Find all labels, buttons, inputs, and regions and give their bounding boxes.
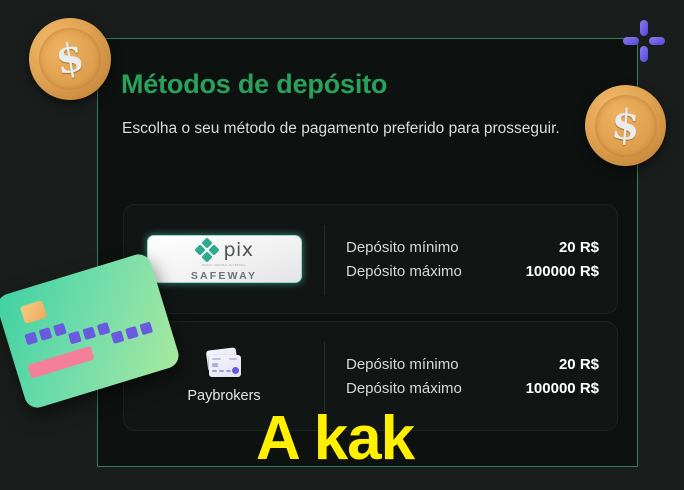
max-deposit-label: Depósito máximo [346,263,462,280]
max-deposit-label: Depósito máximo [346,380,462,397]
method-divider [324,225,325,295]
pix-limits: Depósito mínimo 20 R$ Depósito máximo 10… [346,205,599,313]
payment-method-pix-safeway[interactable]: pix BANCO CENTRAL DO BRASIL SAFEWAY Depó… [123,204,618,314]
overlay-watermark-text: A kak [256,408,414,470]
min-deposit-label: Depósito mínimo [346,239,459,256]
pix-tagline: BANCO CENTRAL DO BRASIL [202,264,245,268]
deposit-methods-panel: Métodos de depósito Escolha o seu método… [97,38,638,467]
pix-diamond-icon [194,237,220,263]
payment-method-list: pix BANCO CENTRAL DO BRASIL SAFEWAY Depó… [123,204,618,438]
page-title: Métodos de depósito [121,69,387,100]
dollar-symbol: $ [610,104,641,147]
pix-brand-safeway: SAFEWAY [191,270,257,282]
min-deposit-label: Depósito mínimo [346,356,459,373]
max-deposit-row: Depósito máximo 100000 R$ [346,263,599,280]
min-deposit-value: 20 R$ [559,239,599,256]
pix-wordmark: pix [223,241,253,260]
credit-card-icon [205,349,243,379]
paybrokers-label: Paybrokers [187,388,260,404]
min-deposit-row: Depósito mínimo 20 R$ [346,239,599,256]
method-divider [324,342,325,412]
page-subtitle: Escolha o seu método de pagamento prefer… [122,116,572,142]
pix-logo-plate[interactable]: pix BANCO CENTRAL DO BRASIL SAFEWAY [147,235,302,283]
screen-root: Métodos de depósito Escolha o seu método… [0,0,684,490]
min-deposit-value: 20 R$ [559,356,599,373]
max-deposit-row: Depósito máximo 100000 R$ [346,380,599,397]
pix-logo-row: pix [194,237,253,263]
plus-sparkle-icon [620,17,668,65]
max-deposit-value: 100000 R$ [526,263,599,280]
dollar-symbol: $ [53,37,87,81]
min-deposit-row: Depósito mínimo 20 R$ [346,356,599,373]
max-deposit-value: 100000 R$ [526,380,599,397]
